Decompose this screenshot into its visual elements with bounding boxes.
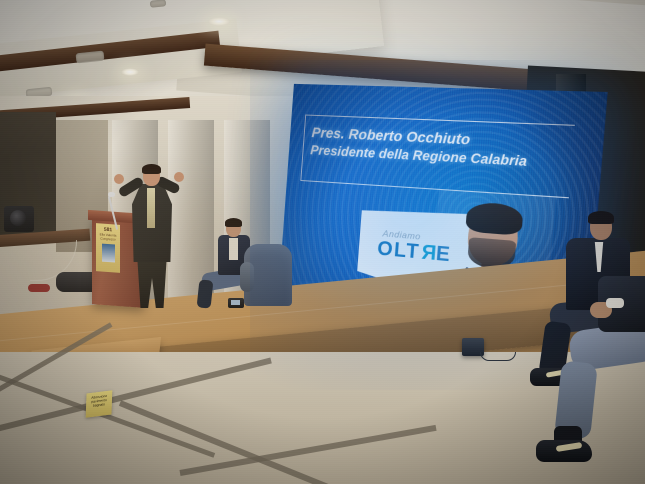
speaker-left-hand — [114, 174, 124, 184]
armchair-arm — [240, 262, 254, 292]
floor-warning-sign: Attenzione pavimento bagnato — [86, 390, 113, 417]
camera-lens-icon — [10, 210, 26, 226]
audience1-hair — [588, 211, 614, 224]
panelist-shin — [197, 279, 214, 308]
podium-poster: 581 Ella Valenta Congresso — [96, 223, 120, 273]
speaker-tie — [147, 188, 155, 228]
downlight-icon — [121, 68, 139, 76]
conference-hall-photo: Pres. Roberto Occhiuto Presidente della … — [0, 0, 645, 484]
poster-line-2: Congresso — [96, 236, 120, 242]
audience-person-2 — [576, 276, 645, 484]
downlight-icon — [208, 17, 230, 26]
audience2-sneaker — [536, 440, 592, 462]
panelist-hair — [225, 218, 242, 227]
stage-cable — [480, 352, 516, 361]
speaker-legs — [136, 258, 168, 308]
microphone-icon — [108, 192, 115, 197]
speaker-person — [126, 166, 178, 308]
audience2-cuff — [606, 298, 624, 308]
speaker-right-hand — [174, 172, 184, 182]
floor-monitor-screen — [231, 300, 240, 305]
speaker-hair — [142, 164, 161, 174]
poster-image — [102, 244, 115, 263]
red-equipment-item — [28, 284, 50, 292]
panelist-shirt — [229, 238, 238, 260]
